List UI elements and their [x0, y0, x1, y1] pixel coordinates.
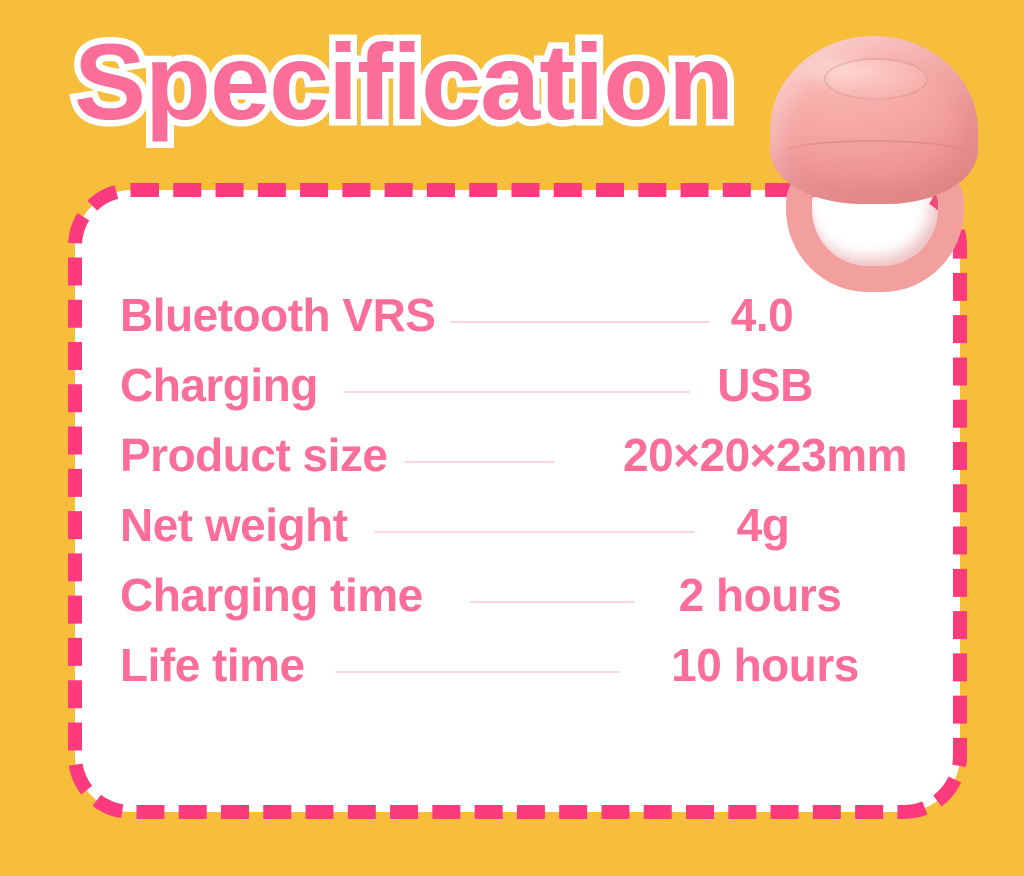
- device-dome: [770, 36, 978, 204]
- spec-row: Bluetooth VRS 4.0: [75, 280, 960, 350]
- page-title: Specification: [74, 28, 733, 136]
- dome-seam-line: [782, 140, 966, 166]
- spec-row: Product size 20×20×23mm: [75, 420, 960, 490]
- spec-value: 4.0: [731, 288, 793, 342]
- specification-poster: Specification Bluetooth VRS 4.0 Charging…: [0, 0, 1024, 876]
- device-button-icon: [824, 58, 928, 100]
- spec-row: Charging time 2 hours: [75, 560, 960, 630]
- spec-value: USB: [717, 358, 813, 412]
- spec-label: Net weight: [120, 498, 348, 552]
- spec-label: Life time: [120, 638, 305, 692]
- spec-leader-line: [335, 671, 620, 673]
- spec-value: 4g: [737, 498, 790, 552]
- spec-label: Charging: [120, 358, 318, 412]
- spec-leader-line: [450, 321, 710, 323]
- spec-row: Life time 10 hours: [75, 630, 960, 700]
- spec-leader-line: [345, 391, 690, 393]
- spec-value: 2 hours: [679, 568, 842, 622]
- spec-label: Charging time: [120, 568, 423, 622]
- spec-row: Charging USB: [75, 350, 960, 420]
- spec-label: Product size: [120, 428, 388, 482]
- spec-value: 20×20×23mm: [623, 428, 907, 482]
- spec-label: Bluetooth VRS: [120, 288, 435, 342]
- spec-leader-line: [470, 601, 635, 603]
- spec-row: Net weight 4g: [75, 490, 960, 560]
- product-image: [762, 22, 987, 287]
- spec-value: 10 hours: [671, 638, 859, 692]
- spec-leader-line: [375, 531, 695, 533]
- spec-leader-line: [405, 461, 555, 463]
